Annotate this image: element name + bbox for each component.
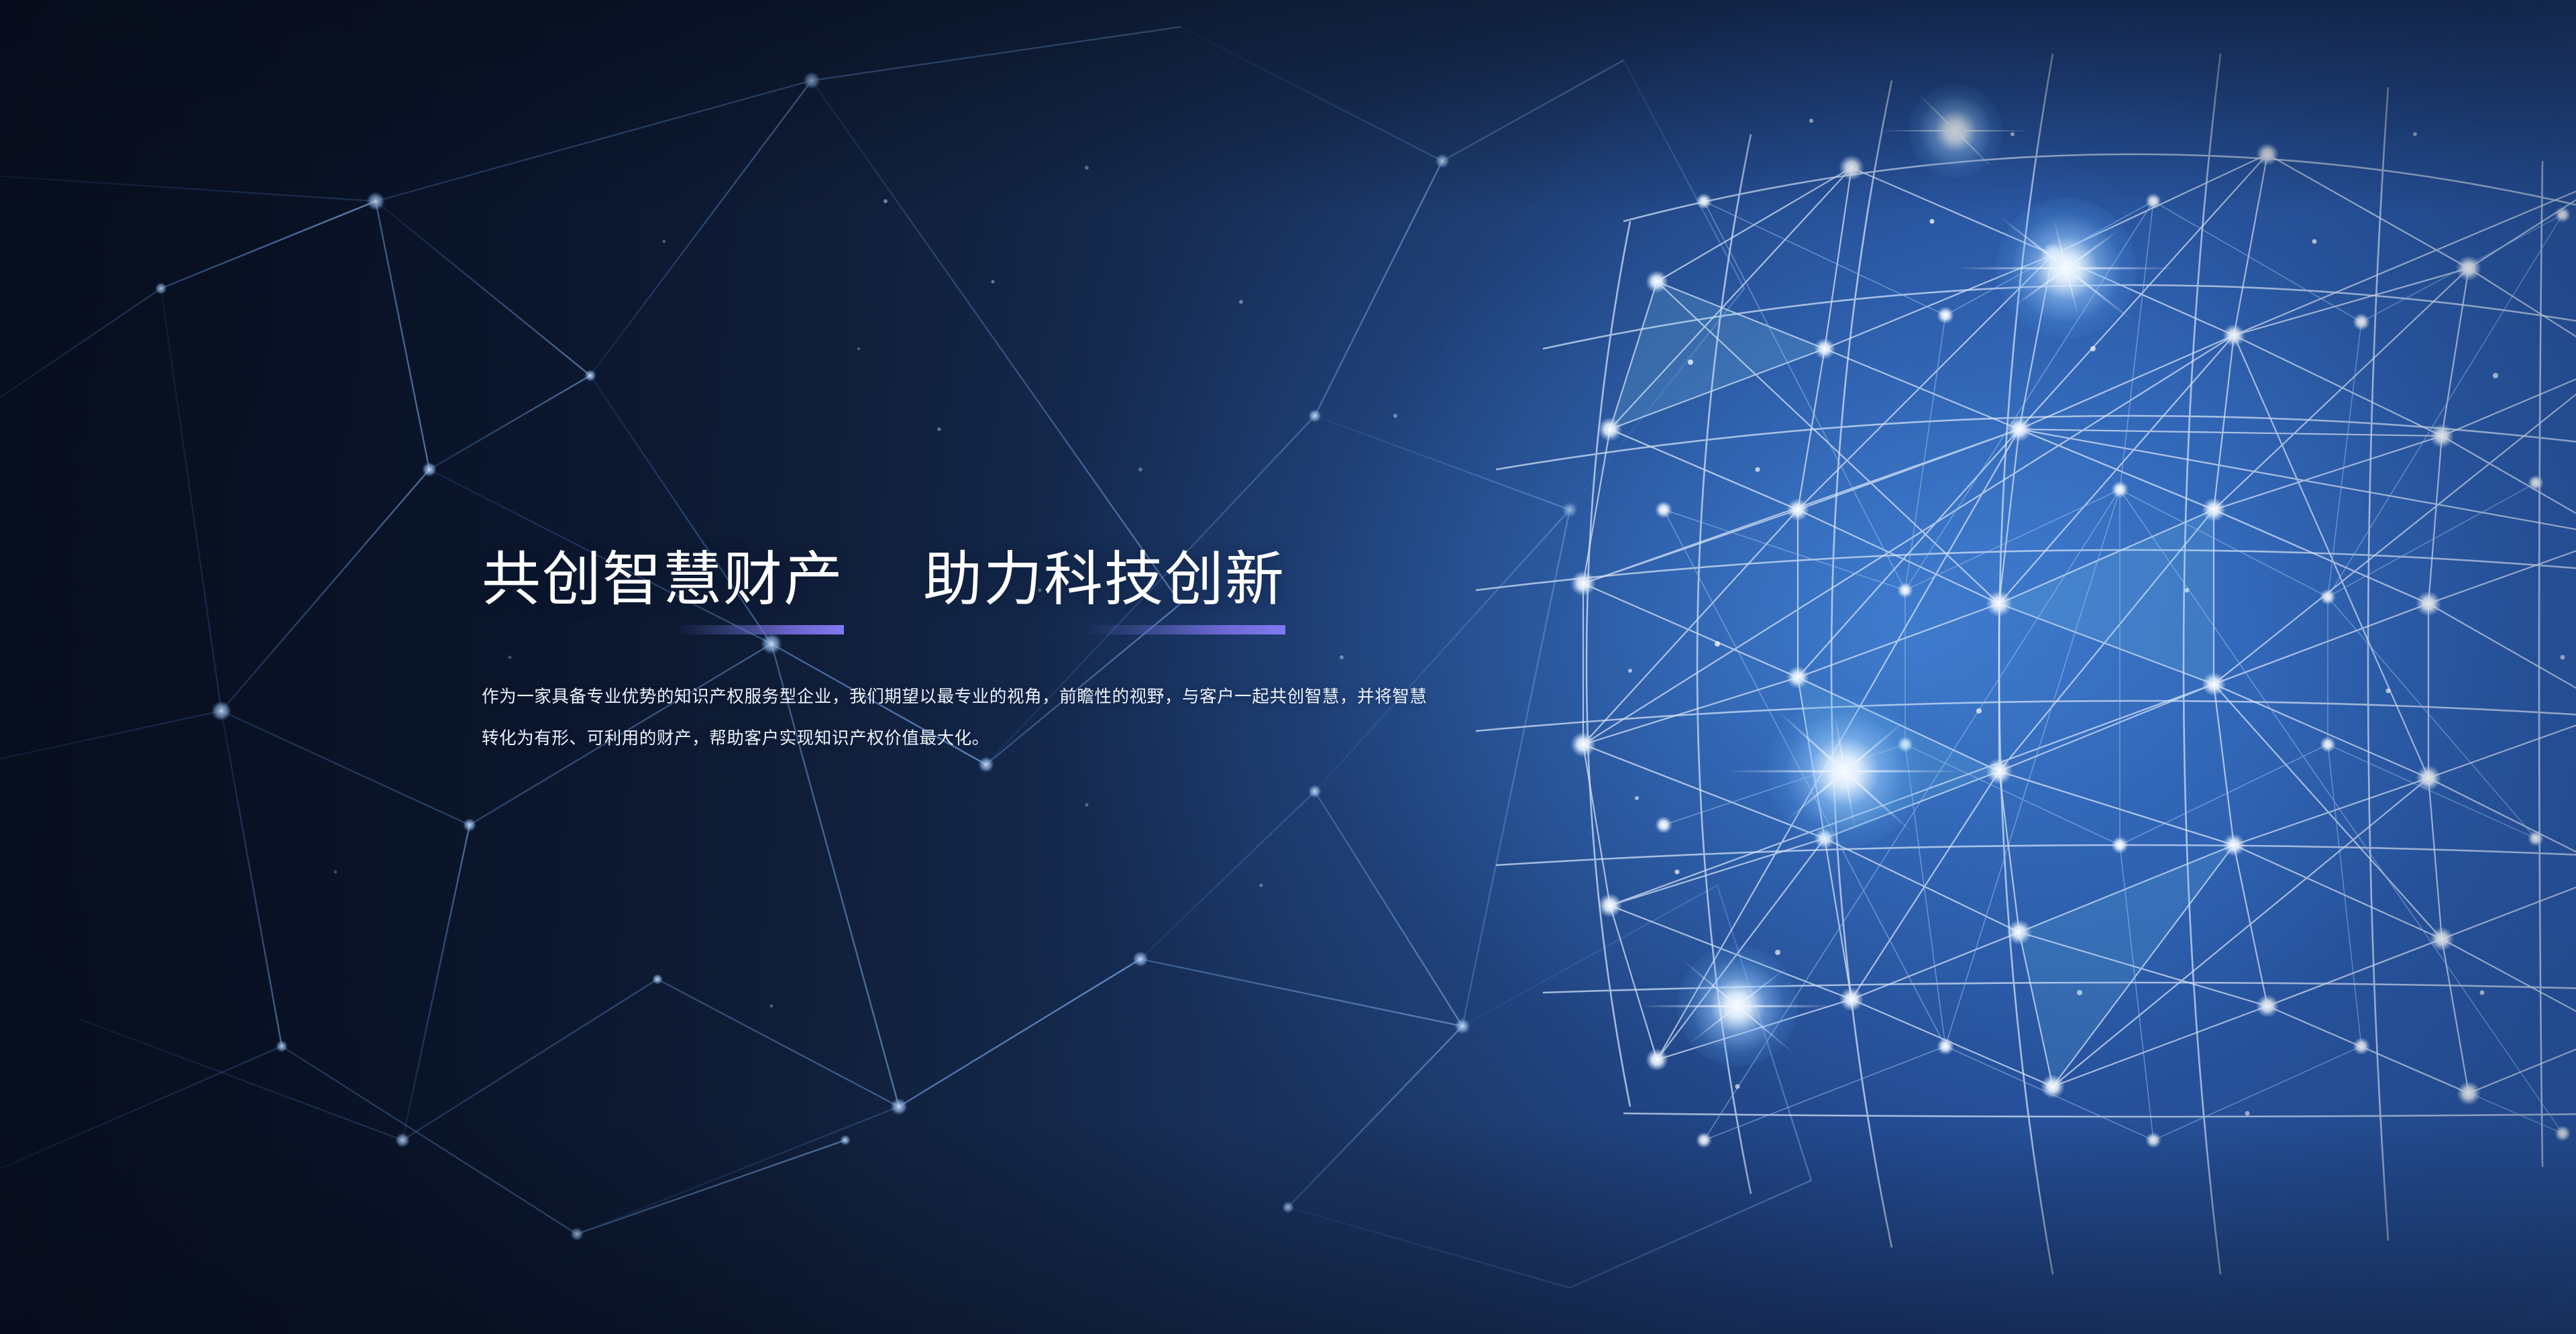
banner-headline: 共创智慧财产 助力科技创新 xyxy=(482,550,1454,609)
headline-phrase-1: 共创智慧财产 xyxy=(482,550,844,609)
headline-underline-accent-1 xyxy=(676,625,844,634)
headline-underline-accent-2 xyxy=(1084,625,1285,634)
headline-phrase-2-text: 助力科技创新 xyxy=(923,550,1285,609)
banner-stage: 共创智慧财产 助力科技创新 作为一家具备专业优势的知识产权服务型企业，我们期望以… xyxy=(0,0,2576,1334)
banner-description: 作为一家具备专业优势的知识产权服务型企业，我们期望以最专业的视角，前瞻性的视野，… xyxy=(482,676,1434,759)
banner-description-text: 作为一家具备专业优势的知识产权服务型企业，我们期望以最专业的视角，前瞻性的视野，… xyxy=(482,676,1434,759)
headline-phrase-2: 助力科技创新 xyxy=(923,550,1285,609)
banner-copy: 共创智慧财产 助力科技创新 作为一家具备专业优势的知识产权服务型企业，我们期望以… xyxy=(482,550,1454,759)
headline-phrase-1-text: 共创智慧财产 xyxy=(482,550,844,609)
